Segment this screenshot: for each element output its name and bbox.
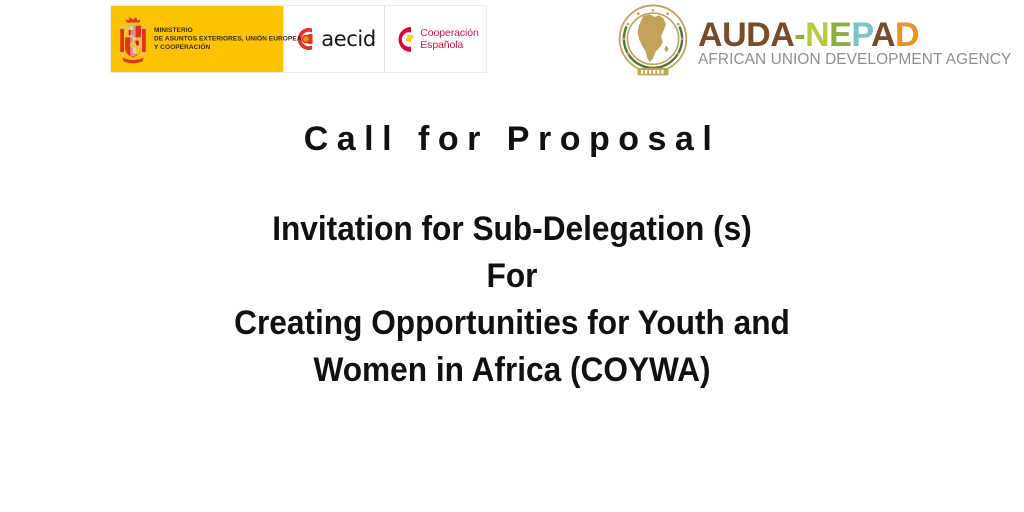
auda-nepad-letter: D — [895, 16, 919, 54]
auda-nepad-letter: P — [851, 16, 871, 54]
headline-line-3: Creating Opportunities for Youth and — [36, 300, 988, 347]
auda-nepad-letter: A — [871, 16, 895, 54]
african-union-emblem-icon — [612, 3, 694, 81]
ministry-line-3: Y COOPERACIÓN — [154, 43, 302, 52]
spain-coat-of-arms-icon — [117, 14, 149, 64]
auda-nepad-wordmark: AUDA-NEPAD AFRICAN UNION DEVELOPMENT AGE… — [698, 16, 1011, 69]
ministry-line-2: DE ASUNTOS EXTERIORES, UNIÓN EUROPEA — [154, 35, 302, 44]
auda-nepad-title: AUDA-NEPAD — [698, 18, 1011, 52]
cooperacion-wordmark: Cooperación Española — [420, 27, 478, 52]
spanish-cooperation-logo: MINISTERIO DE ASUNTOS EXTERIORES, UNIÓN … — [110, 5, 487, 73]
auda-nepad-logo: AUDA-NEPAD AFRICAN UNION DEVELOPMENT AGE… — [612, 2, 982, 82]
auda-nepad-letter: A — [770, 16, 794, 54]
cooperacion-line-2: Española — [420, 39, 478, 52]
headline-line-2: For — [36, 253, 988, 300]
auda-nepad-subtitle: AFRICAN UNION DEVELOPMENT AGENCY — [698, 51, 1011, 69]
auda-nepad-letter: - — [794, 16, 805, 54]
ministry-line-1: MINISTERIO — [154, 26, 302, 35]
cooperacion-espanola-block: Cooperación Española — [385, 6, 486, 72]
headline-line-1: Invitation for Sub-Delegation (s) — [36, 206, 988, 253]
headline-block: Invitation for Sub-Delegation (s) For Cr… — [36, 206, 988, 394]
auda-nepad-letter: N — [805, 16, 829, 54]
logo-band: MINISTERIO DE ASUNTOS EXTERIORES, UNIÓN … — [0, 0, 1024, 86]
aecid-wordmark: aecid — [321, 27, 376, 51]
headline-line-4: Women in Africa (COYWA) — [36, 347, 988, 394]
page-title: Call for Proposal — [0, 118, 1024, 160]
slide-content: Call for Proposal Invitation for Sub-Del… — [0, 86, 1024, 394]
ministry-block: MINISTERIO DE ASUNTOS EXTERIORES, UNIÓN … — [111, 6, 283, 72]
auda-nepad-letter: D — [746, 16, 770, 54]
auda-nepad-letter: U — [722, 16, 746, 54]
cooperacion-mark-icon — [392, 23, 417, 56]
auda-nepad-letter: E — [829, 16, 851, 54]
ministry-text: MINISTERIO DE ASUNTOS EXTERIORES, UNIÓN … — [154, 26, 302, 52]
cooperacion-line-1: Cooperación — [420, 27, 478, 40]
auda-nepad-letter: A — [698, 16, 722, 54]
